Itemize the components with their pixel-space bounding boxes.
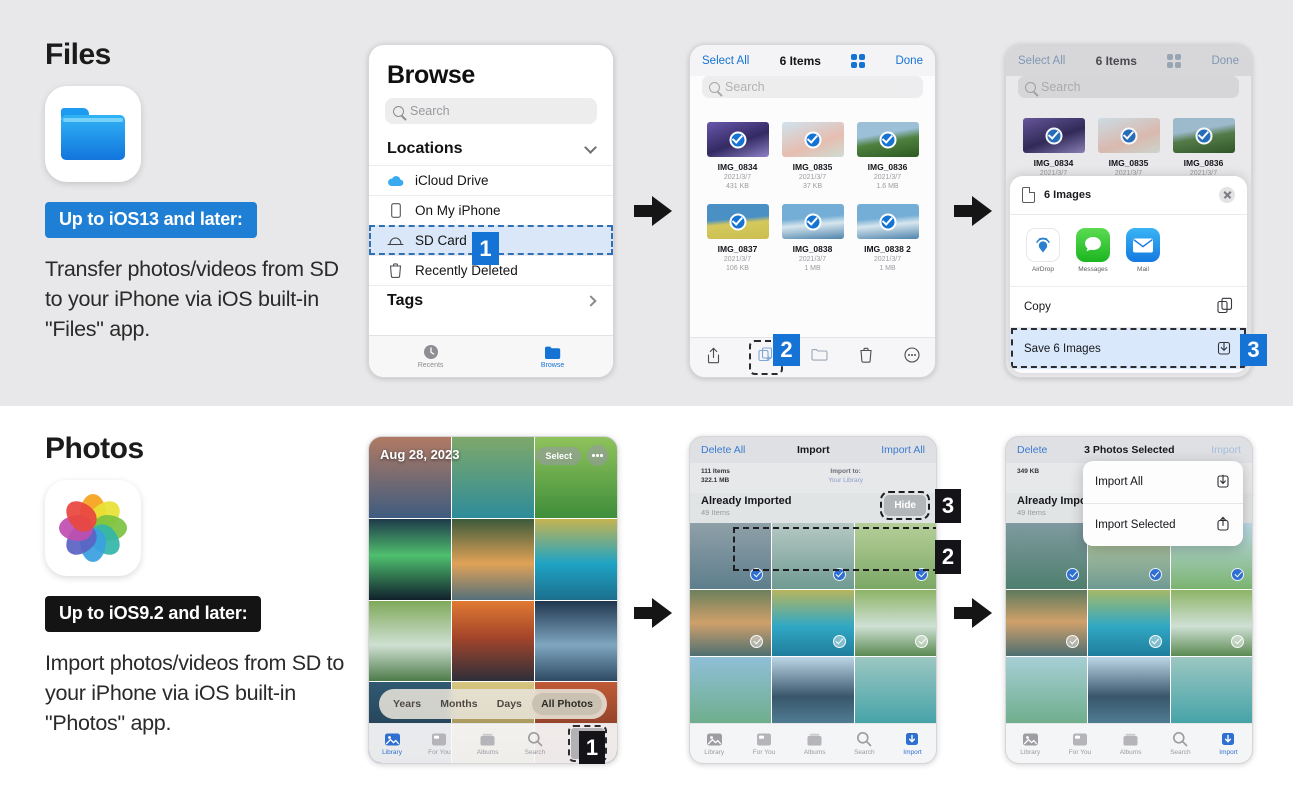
file-thumbnail (782, 204, 844, 239)
check-icon (833, 568, 846, 581)
menu-item-label: Import All (1095, 476, 1143, 488)
photos-section-title: Photos (45, 432, 345, 466)
tab-label: Library (382, 749, 402, 756)
share-sheet: 6 Images AirDrop Messages (1010, 176, 1247, 373)
photo-thumb[interactable] (855, 657, 936, 723)
files-description-block: Files Up to iOS13 and later: Transfer ph… (45, 38, 345, 344)
share-action-label: Copy (1024, 301, 1051, 313)
photo-thumb[interactable] (855, 523, 936, 589)
photo-thumb[interactable] (1006, 657, 1087, 723)
file-size: 1.6 MB (876, 183, 898, 190)
select-all-button[interactable]: Select All (702, 55, 749, 67)
check-icon (750, 635, 763, 648)
file-thumbnail (782, 122, 844, 157)
menu-item-label: Import Selected (1095, 519, 1176, 531)
share-sheet-title: 6 Images (1044, 189, 1210, 201)
tab-label: Search (1170, 749, 1191, 756)
arrow-photos-1-to-2 (634, 598, 672, 628)
share-target-label: Mail (1137, 266, 1149, 273)
photo-thumb[interactable] (535, 601, 617, 682)
file-size: 431 KB (726, 183, 749, 190)
check-icon (879, 131, 896, 148)
import-title: Import (797, 444, 830, 456)
document-icon (1022, 187, 1035, 203)
delete-all-button[interactable]: Delete All (701, 444, 745, 456)
check-icon (1149, 568, 1162, 581)
photos-date-header: Aug 28, 2023 (380, 447, 460, 462)
check-icon (833, 635, 846, 648)
check-icon (1231, 568, 1244, 581)
sidebar-item-label: iCloud Drive (415, 173, 489, 188)
import-destination-value[interactable]: Your Library (828, 477, 863, 484)
file-name: IMG_0835 (793, 162, 833, 172)
grid-view-icon[interactable] (851, 54, 865, 68)
check-icon (915, 568, 928, 581)
photos-import-menu-tabbar: Library For You Albums Search Import (1006, 723, 1252, 763)
tab-search[interactable]: Search (854, 731, 875, 756)
file-date: 2021/3/7 (724, 256, 751, 263)
file-date: 2021/3/7 (799, 174, 826, 181)
files-share-search-placeholder: Search (1041, 80, 1081, 94)
tab-for-you[interactable]: For You (753, 732, 775, 756)
tab-albums[interactable]: Albums (804, 732, 826, 756)
photo-thumb[interactable] (772, 590, 853, 656)
file-thumbnail (857, 204, 919, 239)
done-button[interactable]: Done (895, 55, 923, 67)
check-icon (1149, 635, 1162, 648)
save-image-icon (1215, 338, 1233, 359)
share-target-mail[interactable]: Mail (1126, 228, 1160, 273)
photo-thumb[interactable] (369, 601, 451, 682)
tab-recents[interactable]: Recents (418, 344, 444, 369)
check-icon (1195, 127, 1212, 144)
photo-thumb[interactable] (772, 657, 853, 723)
photo-thumb[interactable] (535, 519, 617, 600)
files-app-icon (45, 86, 141, 182)
import-total-size: 322.1 MB (701, 476, 730, 485)
file-name: IMG_0836 (1184, 158, 1224, 168)
step-badge-files-1: 1 (472, 232, 499, 265)
files-grid-panel: Select All 6 Items Done Search IMG_0834 … (689, 44, 936, 378)
tab-label: Albums (804, 749, 826, 756)
tab-for-you[interactable]: For You (1069, 732, 1091, 756)
search-icon (1025, 82, 1036, 93)
file-size: 37 KB (803, 183, 822, 190)
file-name: IMG_0838 (793, 244, 833, 254)
file-item[interactable]: IMG_0835 2021/3/7 37 KB (775, 122, 850, 190)
tab-browse[interactable]: Browse (541, 345, 564, 369)
item-count-title: 6 Items (1096, 54, 1137, 68)
tab-search[interactable]: Search (1170, 731, 1191, 756)
photo-thumb[interactable] (369, 519, 451, 600)
photo-thumb[interactable] (690, 590, 771, 656)
selection-total-size: 349 KB (1017, 467, 1039, 476)
file-name: IMG_0834 (1034, 158, 1074, 168)
share-target-label: AirDrop (1032, 266, 1054, 273)
import-menu-navbar: Delete 3 Photos Selected Import (1006, 437, 1252, 463)
tab-label: Import (1219, 749, 1237, 756)
search-icon (393, 106, 404, 117)
files-grid-navbar: Select All 6 Items Done (690, 45, 935, 76)
photos-description-text: Import photos/videos from SD to your iPh… (45, 648, 345, 738)
delete-button[interactable]: Delete (1017, 444, 1047, 456)
share-targets-row: AirDrop Messages Mail (1010, 215, 1247, 286)
file-thumbnail (707, 204, 769, 239)
item-count-title: 6 Items (780, 54, 821, 68)
file-thumbnail (1098, 118, 1160, 153)
file-date: 2021/3/7 (874, 256, 901, 263)
files-browse-panel: Browse Search Locations iCloud Drive On … (368, 44, 614, 378)
tab-label: Albums (477, 749, 499, 756)
tags-header-label: Tags (387, 292, 423, 310)
check-icon (1066, 568, 1079, 581)
photos-app-icon (45, 480, 141, 576)
browse-search-placeholder: Search (410, 104, 450, 118)
files-description-text: Transfer photos/videos from SD to your i… (45, 254, 345, 344)
photo-thumb[interactable] (1171, 657, 1252, 723)
tab-for-you[interactable]: For You (428, 732, 450, 756)
files-tabbar: Recents Browse (369, 335, 613, 377)
segment-all-photos[interactable]: All Photos (532, 693, 602, 715)
trash-icon[interactable] (859, 347, 873, 368)
files-share-panel: Select All 6 Items Done Search IMG_0834 … (1005, 44, 1252, 378)
tab-library[interactable]: Library (704, 732, 724, 756)
tab-label: For You (428, 749, 450, 756)
photo-thumb[interactable] (855, 590, 936, 656)
photos-flower-icon (57, 492, 129, 564)
photo-thumb[interactable] (1088, 590, 1169, 656)
select-button[interactable]: Select (536, 447, 581, 465)
file-thumbnail (857, 122, 919, 157)
import-options-menu: Import All Import Selected (1083, 461, 1243, 546)
tab-albums[interactable]: Albums (1120, 732, 1142, 756)
file-name: IMG_0837 (718, 244, 758, 254)
menu-item-import-selected[interactable]: Import Selected (1083, 503, 1243, 546)
menu-item-import-all[interactable]: Import All (1083, 461, 1243, 503)
photo-thumb[interactable] (452, 437, 534, 518)
copy-icon (1217, 297, 1233, 317)
photo-thumb[interactable] (1006, 523, 1087, 589)
sidebar-item-icloud-drive[interactable]: iCloud Drive (369, 165, 613, 195)
file-item[interactable]: IMG_0834 2021/3/7 431 KB (700, 122, 775, 190)
file-date: 2021/3/7 (799, 256, 826, 263)
chevron-right-icon (585, 295, 596, 306)
tab-library[interactable]: Library (382, 732, 402, 756)
share-target-airdrop[interactable]: AirDrop (1026, 228, 1060, 273)
sd-card-icon (387, 233, 404, 248)
files-share-navbar: Select All 6 Items Done (1006, 45, 1251, 76)
import-grid (1006, 523, 1252, 723)
file-item[interactable]: IMG_0837 2021/3/7 106 KB (700, 204, 775, 272)
tab-label: Import (903, 749, 921, 756)
file-name: IMG_0835 (1109, 158, 1149, 168)
tab-search[interactable]: Search (525, 731, 546, 756)
selection-title: 3 Photos Selected (1084, 444, 1174, 456)
locations-header-label: Locations (387, 140, 463, 158)
browse-title: Browse (369, 45, 613, 94)
photos-top-buttons: Select (536, 445, 608, 466)
photo-thumb[interactable] (1006, 590, 1087, 656)
check-icon (729, 213, 746, 230)
segment-months[interactable]: Months (431, 693, 486, 715)
hide-button[interactable]: Hide (884, 495, 926, 516)
grid-view-icon[interactable] (1167, 54, 1181, 68)
files-grid-search-input[interactable]: Search (702, 76, 923, 98)
dimmed-backdrop: Select All 6 Items Done Search IMG_0834 … (1006, 45, 1251, 186)
arrow-files-2-to-3 (954, 196, 992, 226)
files-version-badge: Up to iOS13 and later: (45, 202, 257, 238)
files-action-toolbar (690, 337, 935, 377)
step-badge-files-3: 3 (1240, 334, 1267, 366)
import-destination-label: Import to: (830, 468, 860, 475)
arrow-photos-2-to-3 (954, 598, 992, 628)
photo-thumb[interactable] (690, 657, 771, 723)
import-summary-row: 111 Items 322.1 MB Import to: Your Libra… (690, 463, 936, 493)
check-icon (750, 568, 763, 581)
photo-thumb[interactable] (452, 519, 534, 600)
tab-label: Albums (1120, 749, 1142, 756)
photos-library-panel: Aug 28, 2023 Select Years Months Days Al… (368, 436, 618, 764)
share-sheet-header: 6 Images (1010, 176, 1247, 215)
files-share-search-input[interactable]: Search (1018, 76, 1239, 98)
check-icon (915, 635, 928, 648)
photos-version-badge: Up to iOS9.2 and later: (45, 596, 261, 632)
check-icon (1231, 635, 1244, 648)
files-section-title: Files (45, 38, 345, 72)
trash-icon (387, 263, 404, 278)
step-badge-files-2: 2 (773, 334, 800, 366)
sidebar-item-label: On My iPhone (415, 203, 501, 218)
check-icon (1045, 127, 1062, 144)
check-icon (729, 131, 746, 148)
import-button[interactable]: Import (1211, 444, 1241, 456)
file-thumbnail (1023, 118, 1085, 153)
file-item[interactable]: IMG_0836 2021/3/7 1.6 MB (850, 122, 925, 190)
file-size: 1 MB (804, 265, 820, 272)
tab-label: Recents (418, 362, 444, 369)
import-grid (690, 523, 936, 723)
photo-thumb[interactable] (452, 601, 534, 682)
file-name: IMG_0836 (868, 162, 908, 172)
file-thumbnail (707, 122, 769, 157)
folder-move-icon[interactable] (811, 348, 828, 367)
airdrop-icon (1026, 228, 1060, 262)
sidebar-item-label: Recently Deleted (415, 263, 518, 278)
sidebar-item-on-my-iphone[interactable]: On My iPhone (369, 195, 613, 225)
photos-segmented-control: Years Months Days All Photos (379, 689, 607, 719)
check-icon (804, 213, 821, 230)
share-icon[interactable] (706, 347, 721, 369)
photos-import-panel: Delete All Import Import All 111 Items 3… (689, 436, 937, 764)
search-icon (709, 82, 720, 93)
step-badge-photos-1: 1 (579, 731, 605, 764)
share-target-messages[interactable]: Messages (1076, 228, 1110, 273)
files-thumbnail-grid: IMG_0834 2021/3/7 431 KB IMG_0835 2021/3… (690, 106, 935, 272)
segment-years[interactable]: Years (384, 693, 430, 715)
file-item[interactable]: IMG_0838 2021/3/7 1 MB (775, 204, 850, 272)
messages-icon (1076, 228, 1110, 262)
arrow-files-1-to-2 (634, 196, 672, 226)
check-icon (1066, 635, 1079, 648)
file-size: 106 KB (726, 265, 749, 272)
folder-icon (61, 108, 125, 160)
files-share-thumbnail-grid: IMG_0834 2021/3/7 431 KB IMG_0835 2021/3… (1006, 106, 1251, 186)
sidebar-item-label: SD Card (415, 233, 467, 248)
file-name: IMG_0834 (718, 162, 758, 172)
share-action-label: Save 6 Images (1024, 343, 1101, 355)
photo-thumb[interactable] (690, 523, 771, 589)
tab-label: For You (753, 749, 775, 756)
import-all-button[interactable]: Import All (881, 444, 925, 456)
check-icon (879, 213, 896, 230)
tab-label: For You (1069, 749, 1091, 756)
infographic-page: Files Up to iOS13 and later: Transfer ph… (0, 0, 1293, 800)
share-action-save-images[interactable]: Save 6 Images (1010, 327, 1247, 369)
photo-thumb[interactable] (1171, 590, 1252, 656)
photos-import-tabbar: Library For You Albums Search Import (690, 723, 936, 763)
check-icon (804, 131, 821, 148)
import-item-count: 111 Items (701, 467, 730, 476)
import-navbar: Delete All Import Import All (690, 437, 936, 463)
tags-header-row[interactable]: Tags (369, 285, 613, 317)
tab-label: Search (854, 749, 875, 756)
browse-search-input[interactable]: Search (385, 98, 597, 124)
tab-import[interactable]: Import (1219, 731, 1237, 756)
close-icon[interactable] (1219, 187, 1235, 203)
file-size: 1 MB (879, 265, 895, 272)
step-badge-photos-select: 2 (935, 540, 961, 574)
more-dots-icon[interactable] (587, 445, 608, 466)
import-all-icon (1215, 472, 1231, 492)
file-date: 2021/3/7 (724, 174, 751, 181)
tab-library[interactable]: Library (1020, 732, 1040, 756)
file-name: IMG_0838 2 (864, 244, 911, 254)
photo-thumb[interactable] (772, 523, 853, 589)
tab-label: Browse (541, 362, 564, 369)
tab-label: Library (704, 749, 724, 756)
file-date: 2021/3/7 (874, 174, 901, 181)
share-action-copy[interactable]: Copy (1010, 286, 1247, 327)
import-selected-icon (1215, 515, 1231, 535)
photo-thumb[interactable] (1088, 657, 1169, 723)
photos-import-menu-panel: Delete 3 Photos Selected Import 349 KB A… (1005, 436, 1253, 764)
done-button[interactable]: Done (1211, 55, 1239, 67)
select-all-button[interactable]: Select All (1018, 55, 1065, 67)
photos-description-block: Photos Up to iOS9.2 and later: Import ph… (45, 432, 345, 738)
chevron-down-icon (584, 141, 597, 154)
mail-icon (1126, 228, 1160, 262)
segment-days[interactable]: Days (488, 693, 531, 715)
step-badge-photos-hide: 3 (935, 489, 961, 523)
tab-label: Library (1020, 749, 1040, 756)
more-icon[interactable] (904, 347, 920, 368)
cloud-icon (387, 173, 404, 188)
check-icon (1120, 127, 1137, 144)
file-thumbnail (1173, 118, 1235, 153)
locations-header-row[interactable]: Locations (369, 134, 613, 165)
tab-import[interactable]: Import (903, 731, 921, 756)
file-item[interactable]: IMG_0838 2 2021/3/7 1 MB (850, 204, 925, 272)
tab-label: Search (525, 749, 546, 756)
iphone-icon (387, 203, 404, 218)
tab-albums[interactable]: Albums (477, 732, 499, 756)
files-grid-search-placeholder: Search (725, 80, 765, 94)
share-target-label: Messages (1078, 266, 1108, 273)
